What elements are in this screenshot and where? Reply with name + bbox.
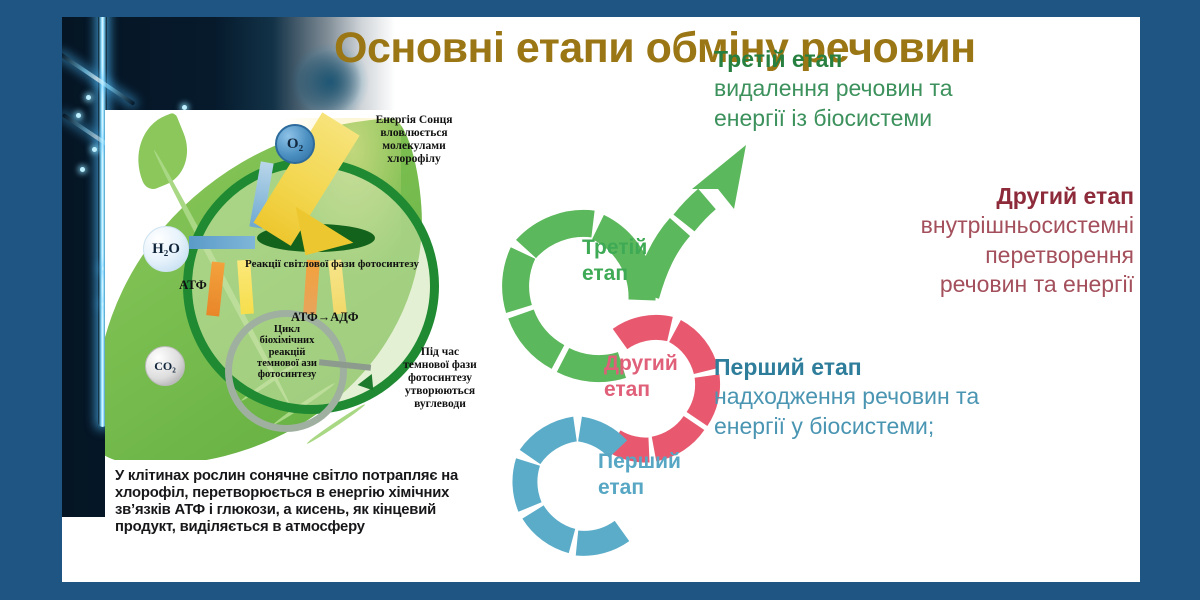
stage-body-first: надходження речовин та енергії у біосист…: [714, 382, 1134, 441]
spark-dot: [76, 113, 81, 118]
photosynthesis-figure-card: Цикл біохімічних реакцій темнової ази фо…: [105, 110, 495, 567]
stage-heading-second: Другий етап: [692, 182, 1134, 211]
stage-heading-first: Перший етап: [714, 353, 1134, 382]
spark-dot: [80, 167, 85, 172]
oxygen-molecule-label: O₂: [275, 124, 315, 164]
spark-dot: [92, 147, 97, 152]
photosynthesis-caption: У клітинах рослин сонячне світло потрапл…: [105, 462, 495, 537]
atf-label: АТФ: [179, 278, 207, 293]
dark-phase-note: Під час темнової фази фотосинтезу утворю…: [385, 346, 495, 410]
sun-energy-note: Енергія Сонця вловлюється молекулами хло…: [339, 114, 489, 166]
stage-body-second: внутрішньосистемні перетворення речовин …: [692, 211, 1134, 299]
stage-arc-first: [525, 429, 622, 543]
stage-heading-third: Третій етап: [714, 45, 1134, 74]
stage-text-third: Третій етап видалення речовин та енергії…: [714, 45, 1134, 133]
stage-text-second: Другий етап внутрішньосистемні перетворе…: [692, 182, 1134, 300]
calvin-cycle-label: Цикл біохімічних реакцій темнової ази фо…: [235, 324, 339, 381]
spark-dot: [86, 95, 91, 100]
water-flow-arrow: [189, 236, 255, 249]
atf-adf-label: АТФ→АДФ: [291, 310, 358, 324]
carbon-dioxide-molecule-label: CO₂: [145, 346, 185, 386]
light-phase-note: Реакції світлової фази фотосинтезу: [245, 258, 495, 270]
leaf-diagram: Цикл біохімічних реакцій темнової ази фо…: [105, 110, 495, 460]
stage-arc-second: [614, 327, 708, 450]
leaf-tip: [123, 112, 199, 192]
stage-body-third: видалення речовин та енергії із біосисте…: [714, 74, 1134, 133]
stage-text-first: Перший етап надходження речовин та енерг…: [714, 353, 1134, 441]
slide-root: Основні етапи обміну речовин: [0, 0, 1200, 600]
slide-canvas: Основні етапи обміну речовин: [62, 17, 1140, 582]
water-molecule-label: H₂O: [143, 226, 189, 272]
